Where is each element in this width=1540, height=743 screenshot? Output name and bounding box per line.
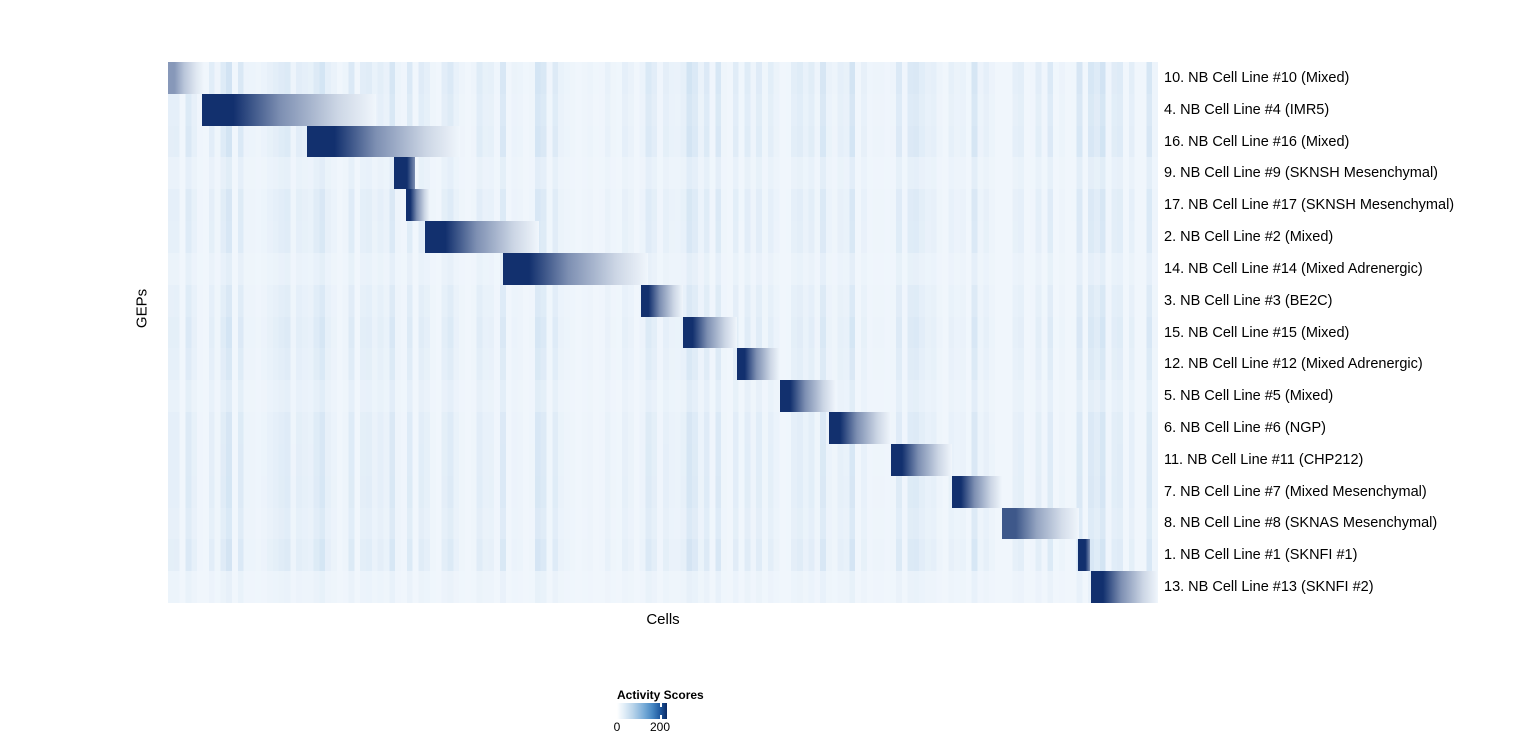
- heatmap-row-noise: [168, 221, 1158, 253]
- heatmap-activity-block: [780, 380, 836, 412]
- heatmap-activity-block: [394, 157, 415, 189]
- heatmap-row-noise: [168, 476, 1158, 508]
- heatmap-activity-block: [952, 476, 1002, 508]
- row-label: 9. NB Cell Line #9 (SKNSH Mesenchymal): [1164, 166, 1438, 181]
- row-label: 11. NB Cell Line #11 (CHP212): [1164, 453, 1363, 468]
- row-label: 1. NB Cell Line #1 (SKNFI #1): [1164, 548, 1357, 563]
- heatmap-row: [168, 189, 1158, 221]
- heatmap-row-noise: [168, 412, 1158, 444]
- heatmap-row: [168, 444, 1158, 476]
- row-label: 6. NB Cell Line #6 (NGP): [1164, 421, 1326, 436]
- heatmap-row-noise: [168, 253, 1158, 285]
- heatmap-row: [168, 221, 1158, 253]
- heatmap-activity-block: [891, 444, 952, 476]
- heatmap-row: [168, 285, 1158, 317]
- heatmap-row: [168, 476, 1158, 508]
- heatmap-activity-block: [683, 317, 737, 349]
- heatmap-row: [168, 508, 1158, 540]
- heatmap-row-noise: [168, 571, 1158, 603]
- heatmap-row-noise: [168, 444, 1158, 476]
- colorbar: [617, 703, 667, 719]
- colorbar-legend: Activity Scores 0200: [560, 686, 820, 743]
- heatmap-row: [168, 157, 1158, 189]
- heatmap-row: [168, 317, 1158, 349]
- row-label: 2. NB Cell Line #2 (Mixed): [1164, 230, 1333, 245]
- heatmap-row-noise: [168, 62, 1158, 94]
- x-axis-title: Cells: [168, 611, 1158, 628]
- row-label: 16. NB Cell Line #16 (Mixed): [1164, 135, 1349, 150]
- row-label: 5. NB Cell Line #5 (Mixed): [1164, 389, 1333, 404]
- row-label: 8. NB Cell Line #8 (SKNAS Mesenchymal): [1164, 516, 1437, 531]
- heatmap-activity-block: [1091, 571, 1158, 603]
- heatmap-activity-block: [1078, 539, 1090, 571]
- row-label: 12. NB Cell Line #12 (Mixed Adrenergic): [1164, 357, 1423, 372]
- heatmap-row: [168, 62, 1158, 94]
- heatmap-row: [168, 412, 1158, 444]
- heatmap-activity-block: [641, 285, 683, 317]
- heatmap-figure: GEPs Cells 10. NB Cell Line #10 (Mixed)4…: [0, 0, 1540, 743]
- heatmap-row: [168, 539, 1158, 571]
- colorbar-title: Activity Scores: [617, 688, 704, 702]
- heatmap-row: [168, 348, 1158, 380]
- heatmap-row-noise: [168, 317, 1158, 349]
- colorbar-tick-label: 200: [650, 720, 670, 734]
- heatmap-row-noise: [168, 348, 1158, 380]
- heatmap-row: [168, 380, 1158, 412]
- heatmap-activity-block: [307, 126, 460, 158]
- heatmap-row: [168, 126, 1158, 158]
- heatmap-activity-block: [202, 94, 376, 126]
- heatmap-row: [168, 571, 1158, 603]
- heatmap-activity-block: [406, 189, 431, 221]
- heatmap-activity-block: [503, 253, 649, 285]
- heatmap-activity-block: [737, 348, 780, 380]
- row-label: 13. NB Cell Line #13 (SKNFI #2): [1164, 580, 1374, 595]
- heatmap-activity-block: [829, 412, 890, 444]
- row-label: 17. NB Cell Line #17 (SKNSH Mesenchymal): [1164, 198, 1454, 213]
- heatmap-row-noise: [168, 157, 1158, 189]
- heatmap-row-noise: [168, 539, 1158, 571]
- heatmap-plot-area: [168, 62, 1158, 603]
- row-label: 10. NB Cell Line #10 (Mixed): [1164, 71, 1349, 86]
- heatmap-activity-block: [168, 62, 204, 94]
- heatmap-row: [168, 253, 1158, 285]
- heatmap-activity-block: [425, 221, 539, 253]
- row-label: 7. NB Cell Line #7 (Mixed Mesenchymal): [1164, 485, 1427, 500]
- colorbar-tick-label: 0: [614, 720, 621, 734]
- colorbar-tick-bottom: [660, 715, 662, 719]
- colorbar-tick-top: [660, 703, 662, 707]
- row-label-list: 10. NB Cell Line #10 (Mixed)4. NB Cell L…: [1164, 62, 1540, 603]
- heatmap-activity-block: [1002, 508, 1079, 540]
- heatmap-row-noise: [168, 380, 1158, 412]
- heatmap-row: [168, 94, 1158, 126]
- heatmap-row-noise: [168, 189, 1158, 221]
- row-label: 4. NB Cell Line #4 (IMR5): [1164, 103, 1329, 118]
- row-label: 14. NB Cell Line #14 (Mixed Adrenergic): [1164, 262, 1423, 277]
- row-label: 15. NB Cell Line #15 (Mixed): [1164, 326, 1349, 341]
- row-label: 3. NB Cell Line #3 (BE2C): [1164, 294, 1332, 309]
- y-axis-title: GEPs: [134, 249, 151, 369]
